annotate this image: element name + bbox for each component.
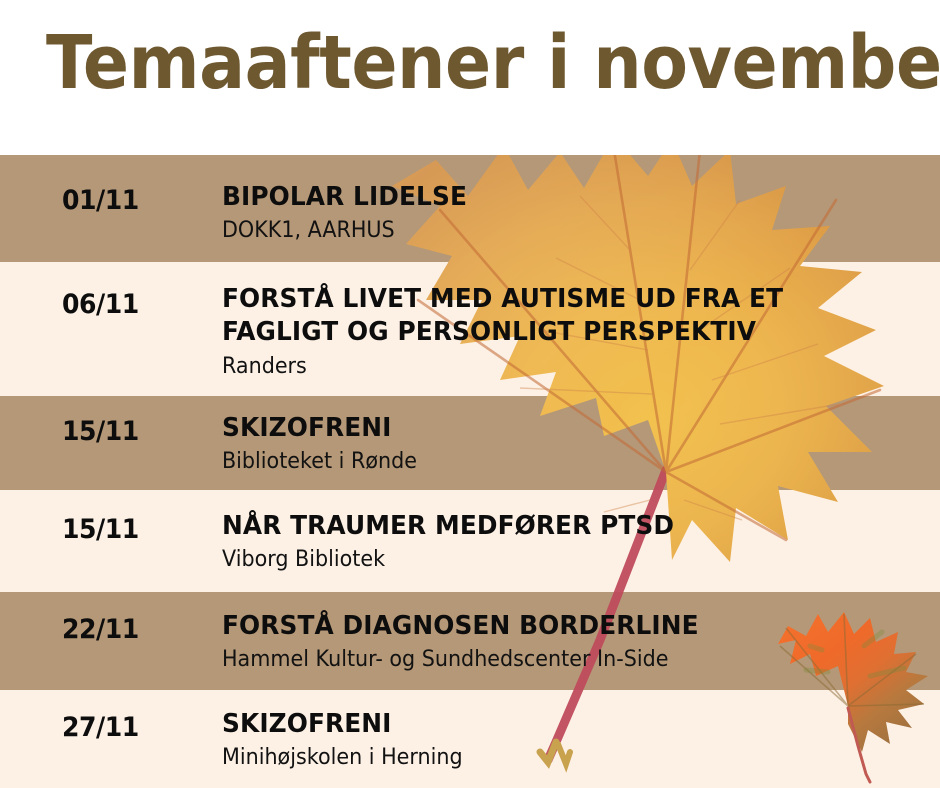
event-title-line: SKIZOFRENI [222, 412, 898, 445]
event-title-line: FORSTÅ DIAGNOSEN BORDERLINE [222, 610, 898, 643]
event-location: Minihøjskolen i Herning [222, 744, 888, 773]
event-location: Viborg Bibliotek [222, 546, 888, 575]
event-row: 01/11 BIPOLAR LIDELSE DOKK1, AARHUS [0, 155, 940, 262]
event-detail: NÅR TRAUMER MEDFØRER PTSD Viborg Bibliot… [222, 510, 930, 575]
event-date: 15/11 [62, 514, 139, 545]
event-detail: FORSTÅ DIAGNOSEN BORDERLINE Hammel Kultu… [222, 610, 930, 675]
event-title-line: BIPOLAR LIDELSE [222, 181, 898, 214]
event-row: 15/11 NÅR TRAUMER MEDFØRER PTSD Viborg B… [0, 490, 940, 592]
event-date: 06/11 [62, 289, 139, 320]
event-row: 15/11 SKIZOFRENI Biblioteket i Rønde [0, 396, 940, 490]
event-row: 22/11 FORSTÅ DIAGNOSEN BORDERLINE Hammel… [0, 592, 940, 690]
event-row: 27/11 SKIZOFRENI Minihøjskolen i Herning [0, 690, 940, 788]
event-title-line: FAGLIGT OG PERSONLIGT PERSPEKTIV [222, 316, 898, 349]
poster-canvas: Temaaftener i november 01/11 BIPOLAR LID… [0, 0, 940, 788]
event-location: Biblioteket i Rønde [222, 448, 888, 477]
event-detail: SKIZOFRENI Biblioteket i Rønde [222, 412, 930, 477]
event-date: 01/11 [62, 185, 139, 216]
event-title-line: SKIZOFRENI [222, 708, 898, 741]
event-date: 15/11 [62, 416, 139, 447]
event-location: Randers [222, 353, 888, 382]
event-row: 06/11 FORSTÅ LIVET MED AUTISME UD FRA ET… [0, 262, 940, 396]
event-date: 27/11 [62, 712, 139, 743]
event-detail: SKIZOFRENI Minihøjskolen i Herning [222, 708, 930, 773]
event-detail: BIPOLAR LIDELSE DOKK1, AARHUS [222, 181, 930, 246]
event-title-line: FORSTÅ LIVET MED AUTISME UD FRA ET [222, 283, 898, 316]
event-date: 22/11 [62, 614, 139, 645]
event-title-line: NÅR TRAUMER MEDFØRER PTSD [222, 510, 898, 543]
event-location: Hammel Kultur- og Sundhedscenter In-Side [222, 646, 888, 675]
title-area: Temaaftener i november [0, 0, 940, 155]
event-location: DOKK1, AARHUS [222, 217, 888, 246]
page-title: Temaaftener i november [46, 26, 940, 100]
event-detail: FORSTÅ LIVET MED AUTISME UD FRA ET FAGLI… [222, 283, 930, 381]
